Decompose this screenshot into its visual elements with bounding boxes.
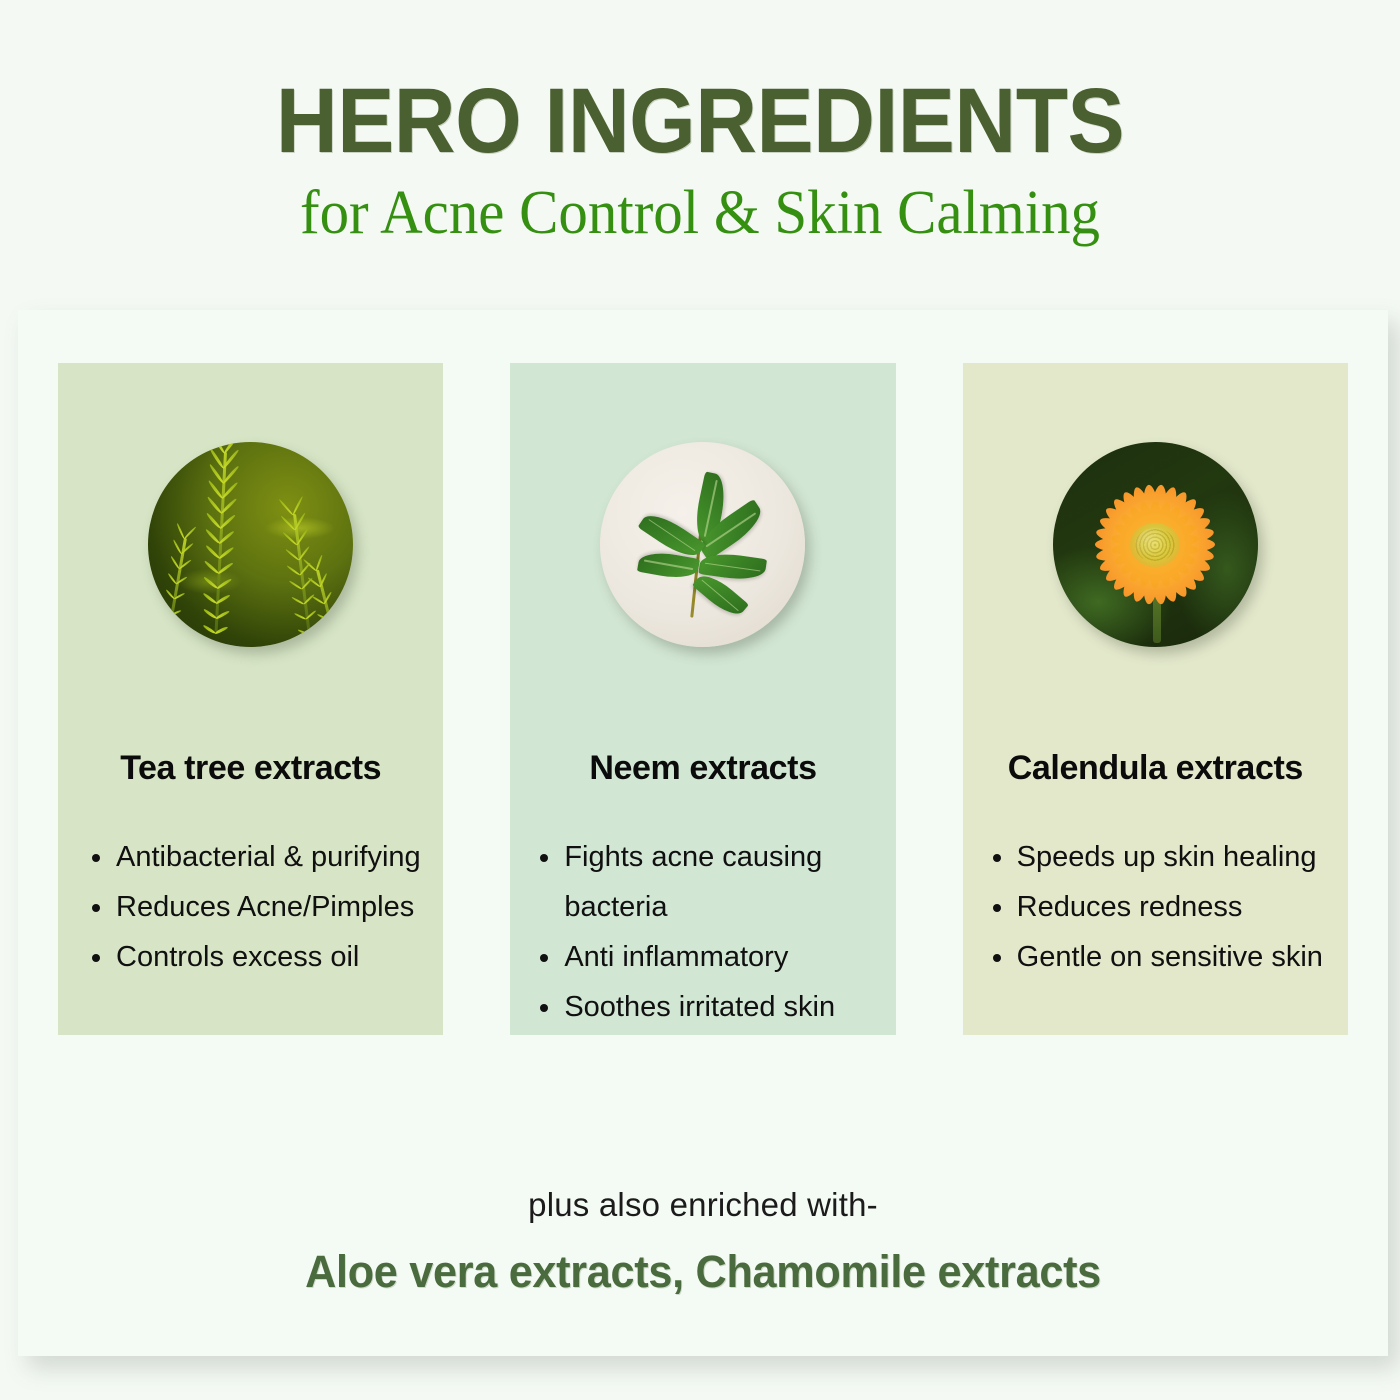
page-title: HERO INGREDIENTS <box>49 78 1351 165</box>
photo-container <box>58 363 443 647</box>
neem-leaf-photo <box>600 442 805 647</box>
list-item: Gentle on sensitive skin <box>989 932 1338 982</box>
list-item: Reduces redness <box>989 882 1338 932</box>
ingredient-card-calendula[interactable]: Calendula extracts Speeds up skin healin… <box>963 363 1348 1035</box>
list-item: Controls excess oil <box>88 932 421 982</box>
calendula-flower-photo <box>1053 442 1258 647</box>
benefit-list-tea-tree: Antibacterial & purifying Reduces Acne/P… <box>58 832 443 982</box>
benefit-list-neem: Fights acne causing bacteria Anti inflam… <box>510 832 895 1032</box>
photo-container <box>510 363 895 647</box>
list-item: Antibacterial & purifying <box>88 832 421 882</box>
footer-lead-text: plus also enriched with- <box>18 1186 1388 1224</box>
benefit-list-calendula: Speeds up skin healing Reduces redness G… <box>963 832 1348 982</box>
list-item: Soothes irritated skin <box>536 982 885 1032</box>
list-item: Fights acne causing bacteria <box>536 832 885 932</box>
list-item: Reduces Acne/Pimples <box>88 882 421 932</box>
photo-container <box>963 363 1348 647</box>
card-title-tea-tree: Tea tree extracts <box>58 749 443 788</box>
content-panel: Tea tree extracts Antibacterial & purify… <box>18 310 1388 1356</box>
tea-tree-plant-photo <box>148 442 353 647</box>
card-title-calendula: Calendula extracts <box>963 749 1348 788</box>
list-item: Speeds up skin healing <box>989 832 1338 882</box>
card-title-neem: Neem extracts <box>510 749 895 788</box>
calendula-center-disc <box>1130 523 1180 567</box>
footer: plus also enriched with- Aloe vera extra… <box>18 1186 1388 1298</box>
footer-extra-ingredients: Aloe vera extracts, Chamomile extracts <box>45 1246 1360 1298</box>
page-subtitle: for Acne Control & Skin Calming <box>35 181 1365 246</box>
ingredient-card-row: Tea tree extracts Antibacterial & purify… <box>58 363 1348 1035</box>
ingredient-card-neem[interactable]: Neem extracts Fights acne causing bacter… <box>510 363 895 1035</box>
header: HERO INGREDIENTS for Acne Control & Skin… <box>0 0 1400 246</box>
ingredient-card-tea-tree[interactable]: Tea tree extracts Antibacterial & purify… <box>58 363 443 1035</box>
list-item: Anti inflammatory <box>536 932 885 982</box>
